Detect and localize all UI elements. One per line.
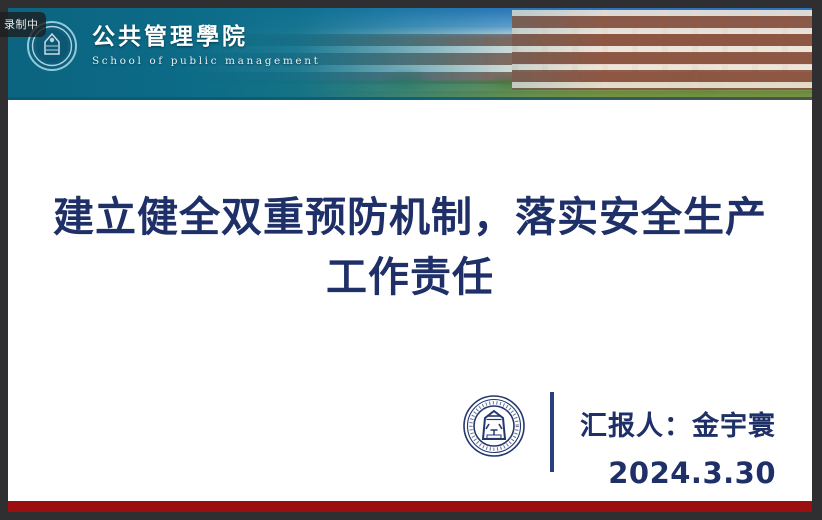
vertical-divider bbox=[550, 392, 554, 472]
banner-school-name-cn: 公共管理學院 bbox=[92, 26, 320, 49]
school-emblem-icon bbox=[462, 394, 526, 458]
slide-footer-bar bbox=[8, 501, 812, 512]
slide-banner: 公共管理學院 School of public management bbox=[8, 8, 812, 100]
slide-body: 建立健全双重预防机制，落实安全生产 工作责任 bbox=[8, 100, 812, 512]
banner-brand: 公共管理學院 School of public management bbox=[26, 20, 320, 72]
presenter-name: 汇报人：金宇寰 bbox=[580, 404, 776, 443]
recording-badge: 录制中 bbox=[0, 12, 46, 37]
slide-canvas[interactable]: 公共管理學院 School of public management 建立健全双… bbox=[8, 8, 812, 512]
slide-title: 建立健全双重预防机制，落实安全生产 工作责任 bbox=[44, 188, 776, 308]
presentation-viewer: 录制中 公共管理學院 bbox=[0, 0, 822, 520]
banner-school-name-en: School of public management bbox=[92, 56, 320, 67]
slide-title-line-1: 建立健全双重预防机制，落实安全生产 bbox=[44, 188, 776, 248]
presenter-block: 汇报人：金宇寰 2024.3.30 bbox=[462, 392, 776, 490]
slide-title-line-2: 工作责任 bbox=[44, 248, 776, 308]
presentation-date: 2024.3.30 bbox=[580, 456, 776, 490]
